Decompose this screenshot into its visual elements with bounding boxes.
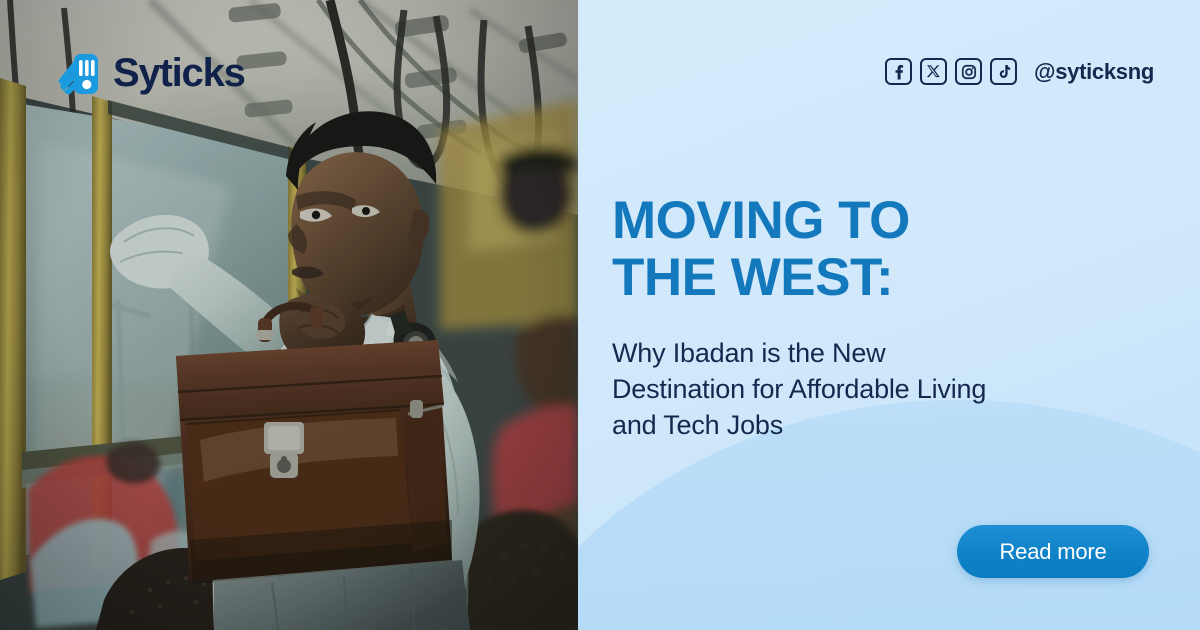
social-handle[interactable]: @syticksng — [1034, 59, 1154, 85]
brand-name: Syticks — [113, 53, 245, 93]
social-card: Syticks @syticksng MOVING TO THE WEST: W… — [0, 0, 1200, 630]
brand-logo[interactable]: Syticks — [56, 48, 245, 98]
tiktok-icon[interactable] — [990, 58, 1017, 85]
x-twitter-icon[interactable] — [920, 58, 947, 85]
facebook-icon[interactable] — [885, 58, 912, 85]
instagram-icon[interactable] — [955, 58, 982, 85]
social-bar: @syticksng — [885, 58, 1154, 85]
card-content: MOVING TO THE WEST: Why Ibadan is the Ne… — [612, 192, 1042, 444]
syticks-ticket-fan-icon — [56, 48, 102, 98]
page-subtitle: Why Ibadan is the New Destination for Af… — [612, 336, 1012, 444]
read-more-button[interactable]: Read more — [957, 525, 1149, 578]
page-title: MOVING TO THE WEST: — [612, 192, 1042, 306]
